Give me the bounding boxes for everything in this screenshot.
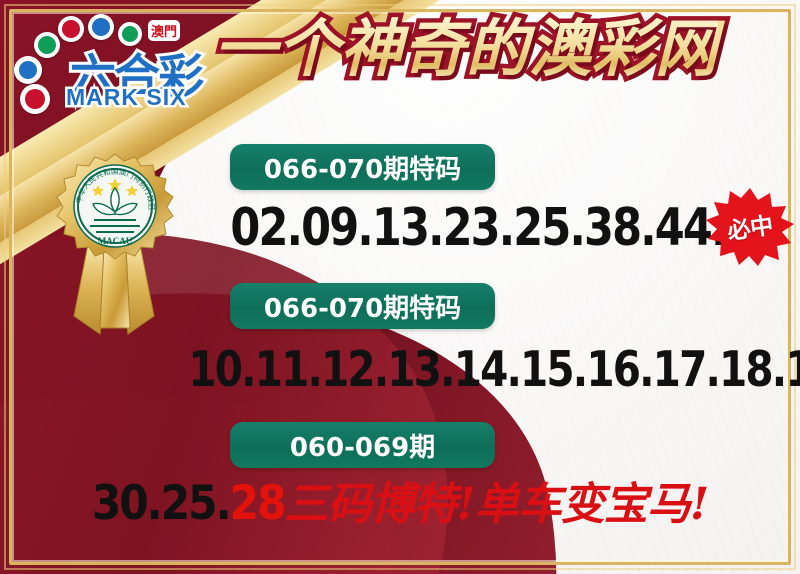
period-label-1[interactable]: 066-070期特码: [230, 144, 495, 190]
macau-medal-badge: MACAU 中华人民共和国澳门特别行政区: [48, 152, 182, 344]
period-label-2-text: 066-070期特码: [264, 288, 461, 325]
page-title: 一个神奇的澳彩网: [214, 18, 718, 80]
bottom-slogan: 30.25.28三码博特!单车变宝马!: [0, 480, 800, 527]
brand-logo[interactable]: 六合彩 MARK SIX 澳門: [14, 14, 224, 114]
period-label-1-text: 066-070期特码: [264, 149, 461, 186]
logo-bead-2: [88, 14, 114, 40]
logo-bead-5: [14, 56, 42, 84]
lottery-numbers-2: 10.11.12.13.14.15.16.17.18.19: [188, 345, 703, 394]
slogan-number-red: 28: [230, 476, 285, 531]
medal-macau-text: MACAU: [98, 236, 133, 246]
logo-bead-1: [58, 16, 84, 42]
logo-bead-4: [34, 32, 60, 58]
lottery-numbers-1: 02.09.13.23.25.38.44.45: [230, 202, 699, 254]
must-hit-starburst: 必中: [706, 186, 794, 266]
starburst-label: 必中: [701, 180, 799, 271]
period-label-3[interactable]: 060-069期: [230, 422, 495, 468]
period-label-2[interactable]: 066-070期特码: [230, 283, 495, 329]
logo-macau-badge: 澳門: [148, 20, 180, 41]
period-label-3-text: 060-069期: [290, 427, 435, 464]
logo-bead-6: [20, 84, 50, 114]
promo-banner: 六合彩 MARK SIX 澳門 一个神奇的澳彩网 一个神奇的澳彩网: [0, 0, 800, 574]
logo-english-text: MARK SIX: [66, 84, 186, 111]
slogan-text: 三码博特!单车变宝马!: [285, 479, 709, 530]
slogan-numbers-black: 30.25.: [92, 476, 230, 531]
